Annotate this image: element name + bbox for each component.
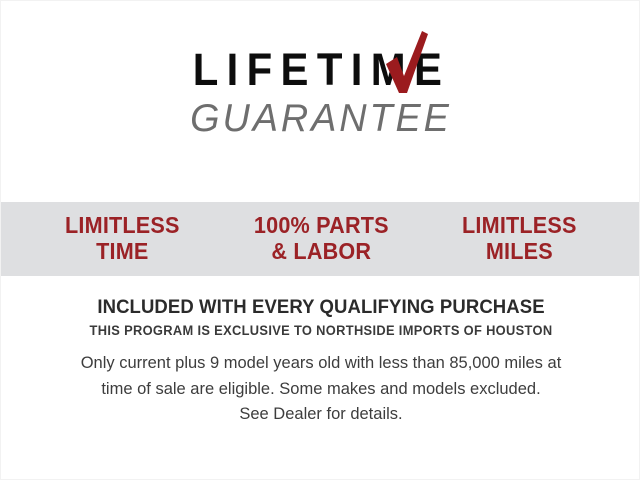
feature-line-1: 100% PARTS [228,213,415,239]
fineprint-line-3: See Dealer for details. [1,402,640,428]
feature-band: LIMITLESS TIME 100% PARTS & LABOR LIMITL… [1,202,640,276]
feature-column-limitless-time: LIMITLESS TIME [29,213,216,265]
feature-line-2: & LABOR [228,239,415,265]
logo-lifetime-row: LIFETIME [183,47,460,92]
logo-word-lifetime: LIFETIME [192,47,450,92]
lifetime-guarantee-ad: LIFETIME GUARANTEE LIMITLESS TIME 100% P… [0,0,640,480]
fineprint-line-2: time of sale are eligible. Some makes an… [1,377,640,403]
fineprint-block: Only current plus 9 model years old with… [1,351,640,428]
headline-secondary: THIS PROGRAM IS EXCLUSIVE TO NORTHSIDE I… [14,323,628,338]
logo-word-guarantee: GUARANTEE [11,99,632,138]
feature-column-limitless-miles: LIMITLESS MILES [426,213,613,265]
feature-line-2: TIME [29,239,216,265]
headline-primary: INCLUDED WITH EVERY QUALIFYING PURCHASE [17,297,625,319]
headline-block: INCLUDED WITH EVERY QUALIFYING PURCHASE … [1,297,640,338]
feature-line-1: LIMITLESS [426,213,613,239]
feature-column-parts-labor: 100% PARTS & LABOR [228,213,415,265]
logo-block: LIFETIME GUARANTEE [1,47,640,138]
feature-line-1: LIMITLESS [29,213,216,239]
fineprint-line-1: Only current plus 9 model years old with… [1,351,640,377]
feature-line-2: MILES [426,239,613,265]
